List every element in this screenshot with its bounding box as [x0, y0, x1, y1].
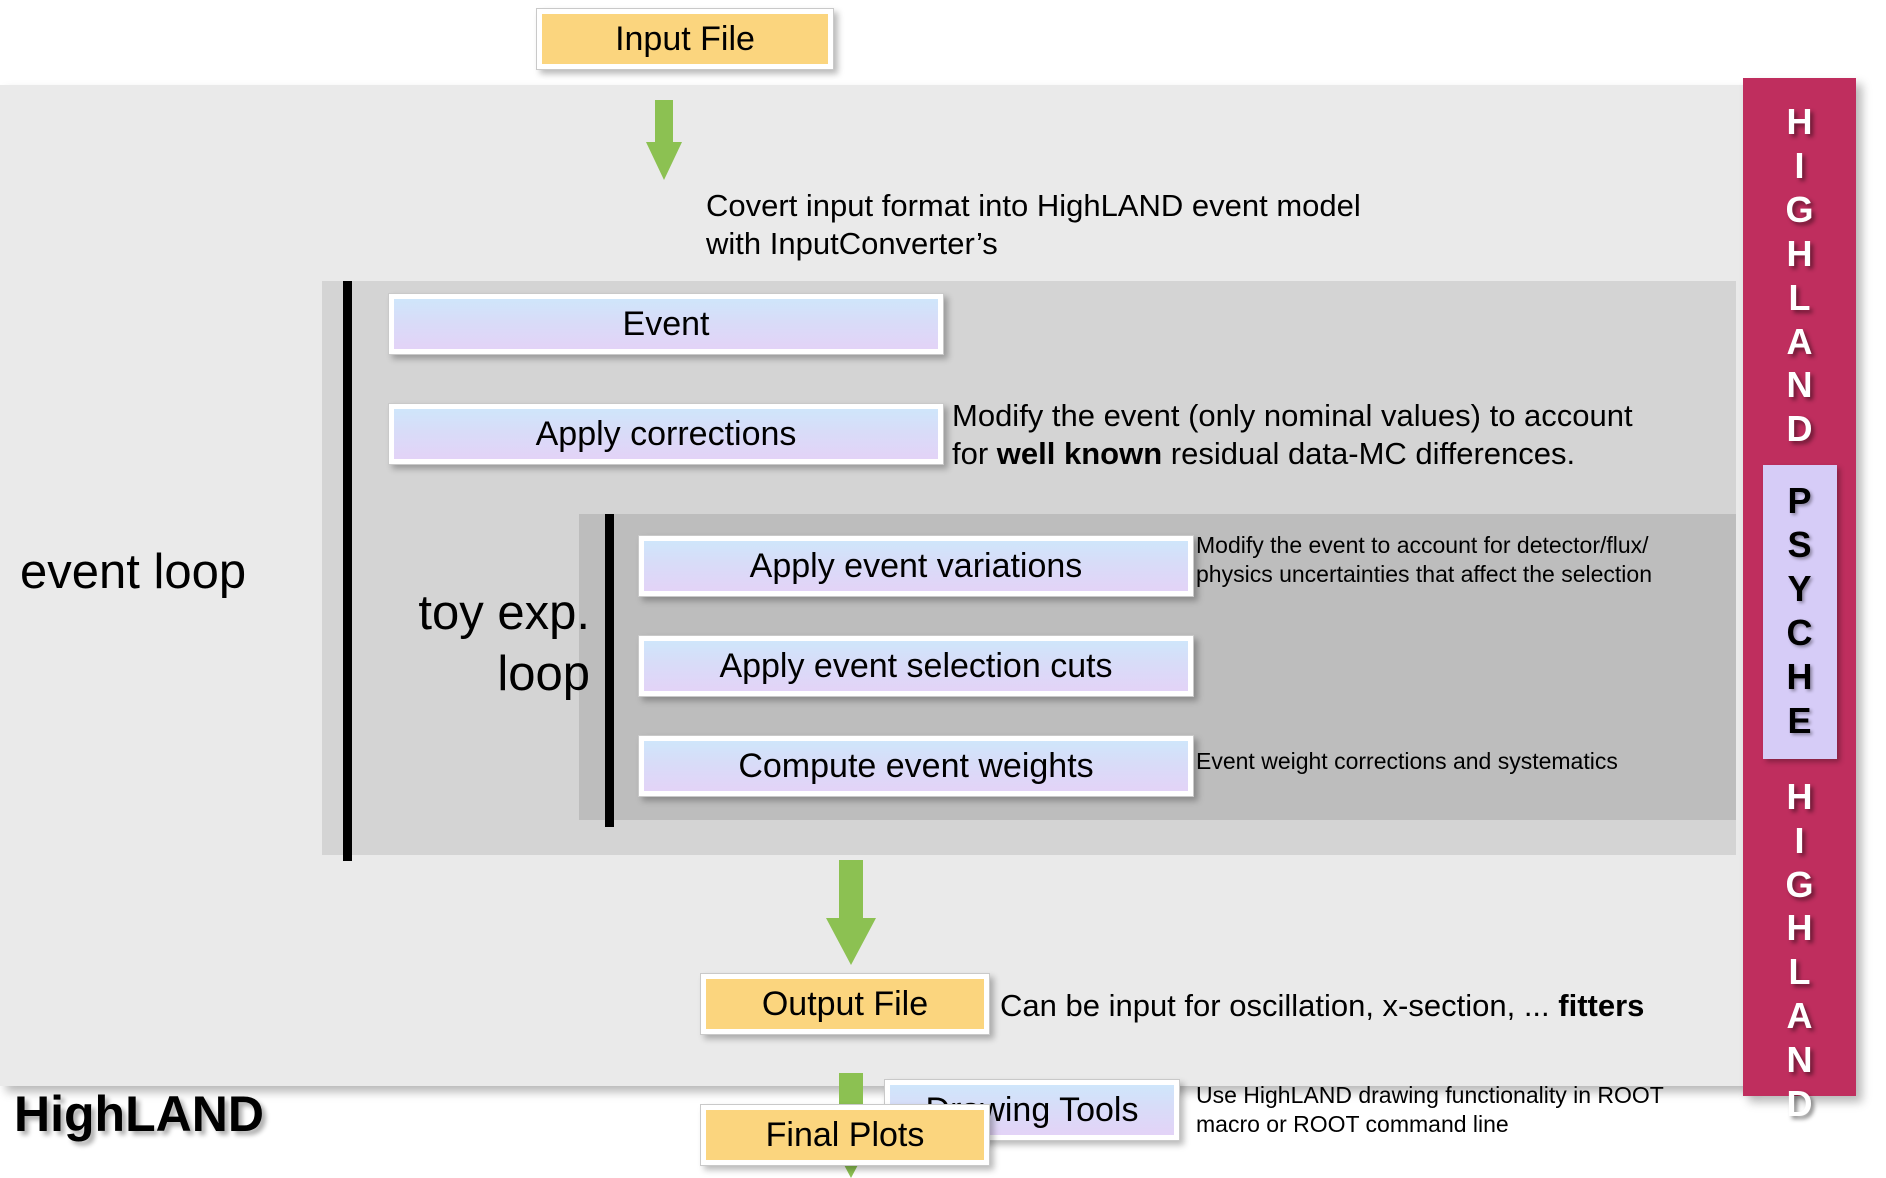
note-output-bold: fitters [1558, 988, 1644, 1023]
note-convert-line2: with InputConverter’s [706, 225, 1466, 263]
note-drawing-line1: Use HighLAND drawing functionality in RO… [1196, 1081, 1736, 1110]
note-convert-input-format: Covert input format into HighLAND event … [706, 187, 1466, 264]
sidebar-letter: I [1794, 144, 1804, 188]
sidebar-letter: H [1786, 775, 1812, 819]
sidebar-letter: P [1787, 479, 1811, 523]
sidebar-letter: D [1786, 407, 1812, 451]
highland-psyche-sidebar: HIGHLAND PSYCHE HIGHLAND [1743, 78, 1856, 1096]
box-apply-event-variations[interactable]: Apply event variations [638, 535, 1194, 597]
box-apply-event-selection-cuts[interactable]: Apply event selection cuts [638, 635, 1194, 697]
sidebar-letter: H [1786, 100, 1812, 144]
note-corrections-line2-bold: well known [997, 436, 1162, 471]
sidebar-letter: L [1788, 276, 1810, 320]
event-loop-label: event loop [20, 544, 320, 600]
box-apply-corrections[interactable]: Apply corrections [388, 403, 944, 465]
highland-panel: event loop toy exp. loop Event Apply cor… [0, 85, 1752, 1086]
down-arrow-icon-input-to-event [646, 100, 682, 180]
sidebar-letter: C [1787, 611, 1813, 655]
box-final-plots[interactable]: Final Plots [700, 1104, 990, 1166]
note-output-pre: Can be input for oscillation, x-section,… [1000, 988, 1558, 1023]
note-corrections-line2-pre: for [952, 436, 997, 471]
sidebar-letter: N [1786, 1038, 1812, 1082]
note-variations-line2: physics uncertainties that affect the se… [1196, 560, 1736, 589]
note-apply-corrections: Modify the event (only nominal values) t… [952, 397, 1722, 474]
sidebar-letter: G [1785, 188, 1813, 232]
event-loop-bracket-bar [343, 281, 352, 861]
sidebar-letter: H [1787, 655, 1813, 699]
sidebar-letter: Y [1787, 567, 1811, 611]
sidebar-letter: L [1788, 950, 1810, 994]
sidebar-letter: I [1794, 819, 1804, 863]
toy-exp-loop-label-line2: loop [370, 644, 590, 705]
box-compute-event-weights-label: Compute event weights [644, 741, 1188, 791]
box-event-label: Event [394, 299, 938, 349]
note-drawing-line2: macro or ROOT command line [1196, 1110, 1736, 1139]
sidebar-letter: H [1786, 906, 1812, 950]
sidebar-letter: E [1787, 699, 1811, 743]
toy-exp-loop-label: toy exp. loop [370, 583, 590, 706]
box-output-file-label: Output File [706, 979, 984, 1029]
box-compute-event-weights[interactable]: Compute event weights [638, 735, 1194, 797]
sidebar-letter: D [1786, 1082, 1812, 1126]
note-output-file: Can be input for oscillation, x-section,… [1000, 987, 1740, 1025]
box-apply-corrections-label: Apply corrections [394, 409, 938, 459]
note-variations-line1: Modify the event to account for detector… [1196, 531, 1736, 560]
box-apply-event-variations-label: Apply event variations [644, 541, 1188, 591]
box-output-file[interactable]: Output File [700, 973, 990, 1035]
box-input-file-label: Input File [542, 14, 828, 64]
toy-exp-loop-label-line1: toy exp. [370, 583, 590, 644]
page-title: HighLAND [14, 1085, 264, 1143]
sidebar-psyche-label: PSYCHE [1763, 479, 1837, 742]
sidebar-letter: N [1786, 363, 1812, 407]
down-arrow-icon-loop-to-output [826, 860, 876, 965]
note-apply-event-variations: Modify the event to account for detector… [1196, 531, 1736, 588]
box-apply-event-selection-cuts-label: Apply event selection cuts [644, 641, 1188, 691]
sidebar-letter: G [1785, 863, 1813, 907]
box-final-plots-label: Final Plots [706, 1110, 984, 1160]
note-compute-event-weights: Event weight corrections and systematics [1196, 747, 1736, 776]
sidebar-letter: A [1786, 994, 1812, 1038]
note-corrections-line2: for well known residual data-MC differen… [952, 435, 1722, 473]
sidebar-letter: H [1786, 232, 1812, 276]
box-event[interactable]: Event [388, 293, 944, 355]
sidebar-letter: S [1787, 523, 1811, 567]
sidebar-highland-top-label: HIGHLAND [1785, 100, 1813, 451]
note-drawing-tools: Use HighLAND drawing functionality in RO… [1196, 1081, 1736, 1138]
sidebar-highland-bottom-label: HIGHLAND [1785, 775, 1813, 1126]
sidebar-letter: A [1786, 320, 1812, 364]
toy-exp-loop-bracket-bar [605, 514, 614, 827]
note-corrections-line1: Modify the event (only nominal values) t… [952, 397, 1722, 435]
box-input-file[interactable]: Input File [536, 8, 834, 70]
sidebar-psyche-box: PSYCHE [1763, 465, 1837, 758]
note-corrections-line2-post: residual data-MC differences. [1162, 436, 1575, 471]
note-convert-line1: Covert input format into HighLAND event … [706, 187, 1466, 225]
